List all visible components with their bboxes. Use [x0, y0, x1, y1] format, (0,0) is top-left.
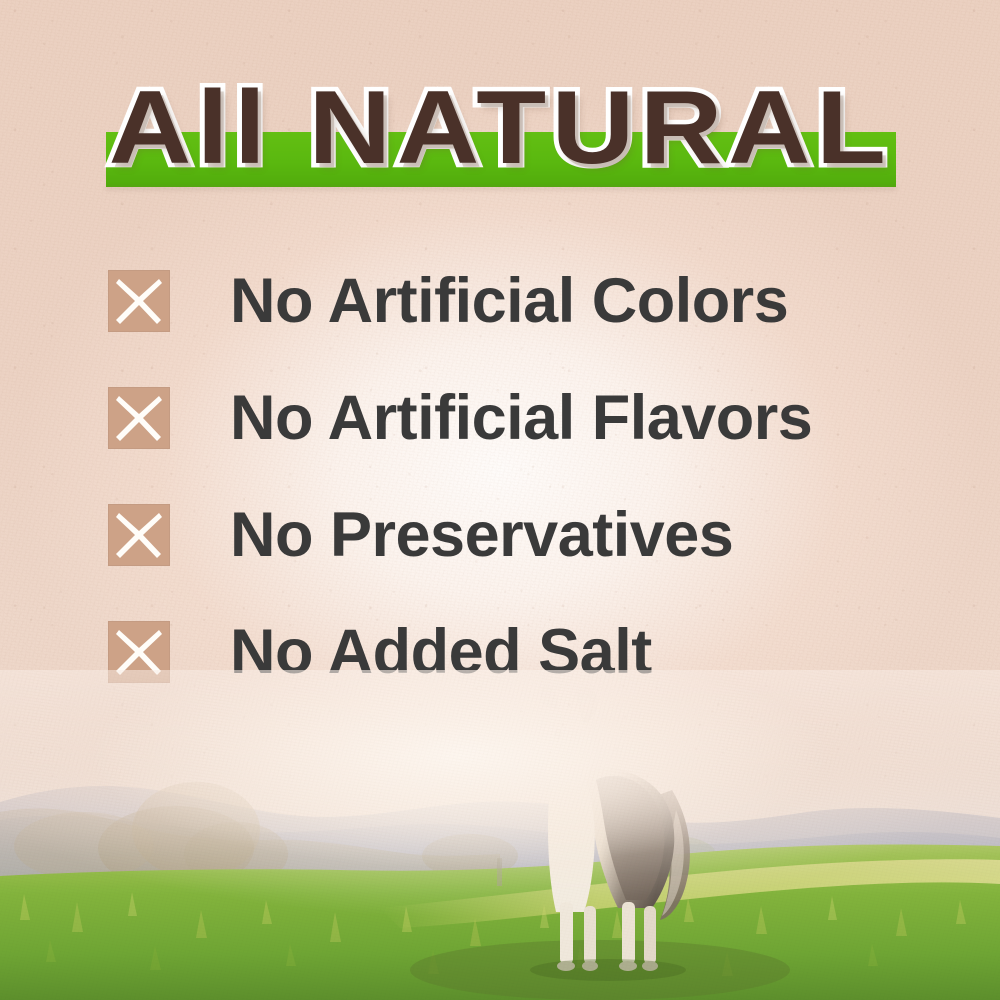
claim-row: No Artificial Colors: [108, 258, 938, 375]
claim-label: No Artificial Flavors: [230, 375, 812, 461]
claim-label: No Artificial Colors: [230, 258, 788, 344]
page-title: All NATURAL: [0, 72, 1000, 184]
x-mark-icon: [108, 504, 170, 566]
x-mark-icon: [108, 270, 170, 332]
all-natural-claims-poster: All NATURAL No Artificial Colors No Arti…: [0, 0, 1000, 1000]
claims-list: No Artificial Colors No Artificial Flavo…: [108, 258, 938, 726]
claim-row: No Preservatives: [108, 492, 938, 609]
landscape-photo: [0, 670, 1000, 1000]
claim-label: No Preservatives: [230, 492, 733, 578]
title-banner: All NATURAL: [0, 72, 1000, 200]
x-mark-icon: [108, 387, 170, 449]
claim-row: No Artificial Flavors: [108, 375, 938, 492]
